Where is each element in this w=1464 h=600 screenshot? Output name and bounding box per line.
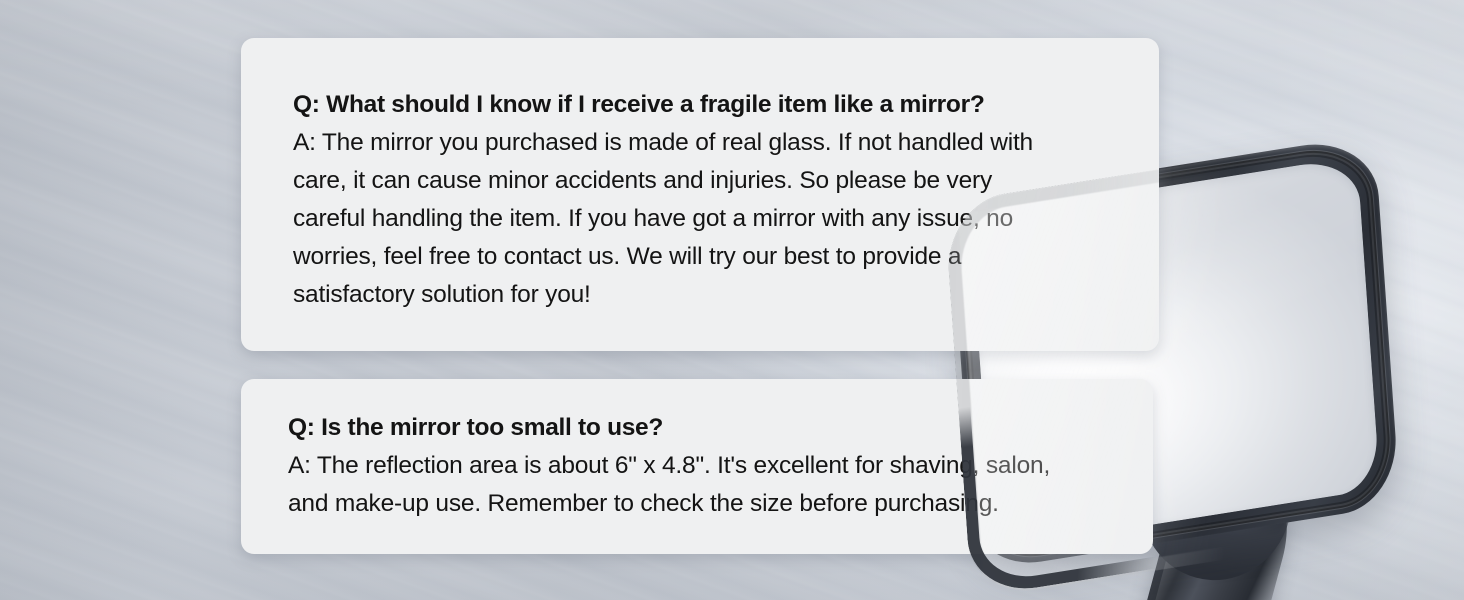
faq-answer-line: careful handling the item. If you have g… xyxy=(293,200,1137,238)
faq-answer-line: care, it can cause minor accidents and i… xyxy=(293,162,1137,200)
faq-banner: Q: What should I know if I receive a fra… xyxy=(0,0,1464,600)
faq-card-body: Q: What should I know if I receive a fra… xyxy=(293,86,1137,314)
faq-card-mirror-size[interactable]: Q: Is the mirror too small to use? A: Th… xyxy=(241,379,1153,554)
faq-question: Q: What should I know if I receive a fra… xyxy=(293,86,1137,124)
faq-answer-line: satisfactory solution for you! xyxy=(293,276,1137,314)
faq-answer-line: A: The mirror you purchased is made of r… xyxy=(293,124,1137,162)
faq-answer-line: and make-up use. Remember to check the s… xyxy=(288,485,1131,523)
faq-question: Q: Is the mirror too small to use? xyxy=(288,409,1131,447)
faq-answer-line: worries, feel free to contact us. We wil… xyxy=(293,238,1137,276)
faq-card-body: Q: Is the mirror too small to use? A: Th… xyxy=(288,409,1131,523)
faq-answer-line: A: The reflection area is about 6" x 4.8… xyxy=(288,447,1131,485)
faq-card-fragile-item[interactable]: Q: What should I know if I receive a fra… xyxy=(241,38,1159,351)
faq-card-list: Q: What should I know if I receive a fra… xyxy=(0,0,1464,600)
